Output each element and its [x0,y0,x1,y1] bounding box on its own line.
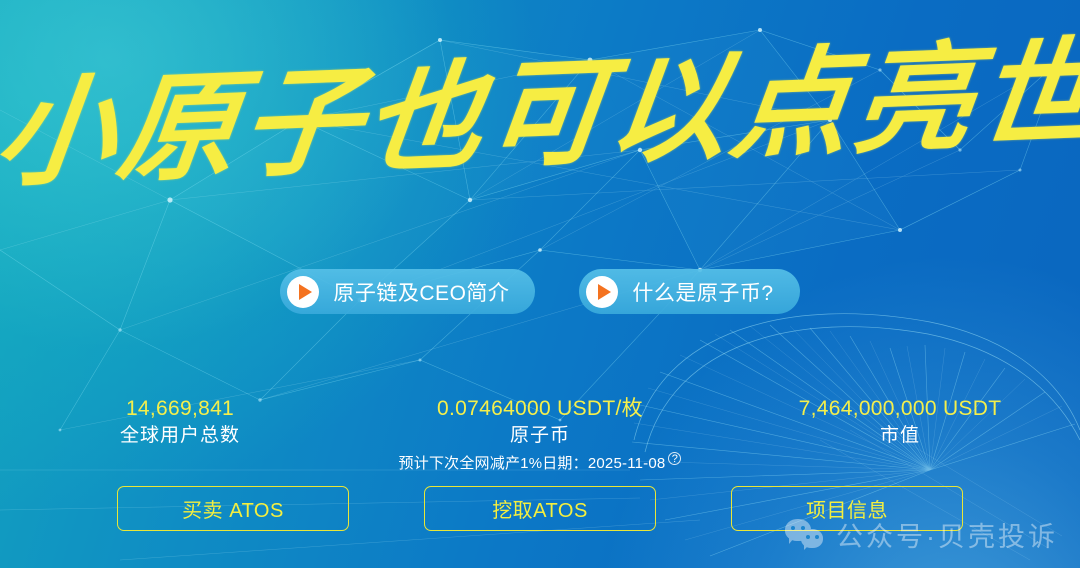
stat-price: 0.07464000 USDT/枚 原子币 [360,396,720,449]
stat-total-users-label: 全球用户总数 [0,424,360,449]
play-icon [586,276,618,308]
halving-notice: 预计下次全网减产1%日期：2025-11-08? [0,452,1080,473]
action-button-row: 买卖 ATOS 挖取ATOS 项目信息 [0,486,1080,531]
project-info-button[interactable]: 项目信息 [731,486,963,531]
headline-container: 小原子也可以点亮世界 [0,52,1080,170]
trade-atos-button[interactable]: 买卖 ATOS [117,486,349,531]
hero-banner: 小原子也可以点亮世界 原子链及CEO简介 什么是原子币? 14,669,841 … [0,0,1080,568]
stat-total-users: 14,669,841 全球用户总数 [0,396,360,449]
stat-price-label: 原子币 [360,424,720,449]
stat-market-cap-value: 7,464,000,000 USDT [720,396,1080,422]
stats-row: 14,669,841 全球用户总数 0.07464000 USDT/枚 原子币 … [0,396,1080,449]
stat-total-users-value: 14,669,841 [0,396,360,422]
stat-price-value: 0.07464000 USDT/枚 [360,396,720,422]
video-button-row: 原子链及CEO简介 什么是原子币? [0,269,1080,314]
video-button-intro[interactable]: 原子链及CEO简介 [280,269,535,314]
halving-notice-text: 预计下次全网减产1%日期：2025-11-08 [399,455,666,472]
video-button-what-is-atos[interactable]: 什么是原子币? [579,269,799,314]
stat-market-cap: 7,464,000,000 USDT 市值 [720,396,1080,449]
video-button-intro-label: 原子链及CEO简介 [333,277,509,307]
mine-atos-button[interactable]: 挖取ATOS [424,486,656,531]
video-button-what-is-atos-label: 什么是原子币? [632,277,773,307]
play-icon [287,276,319,308]
help-question-icon[interactable]: ? [668,452,681,465]
page-title: 小原子也可以点亮世界 [0,29,1080,194]
stat-market-cap-label: 市值 [720,424,1080,449]
